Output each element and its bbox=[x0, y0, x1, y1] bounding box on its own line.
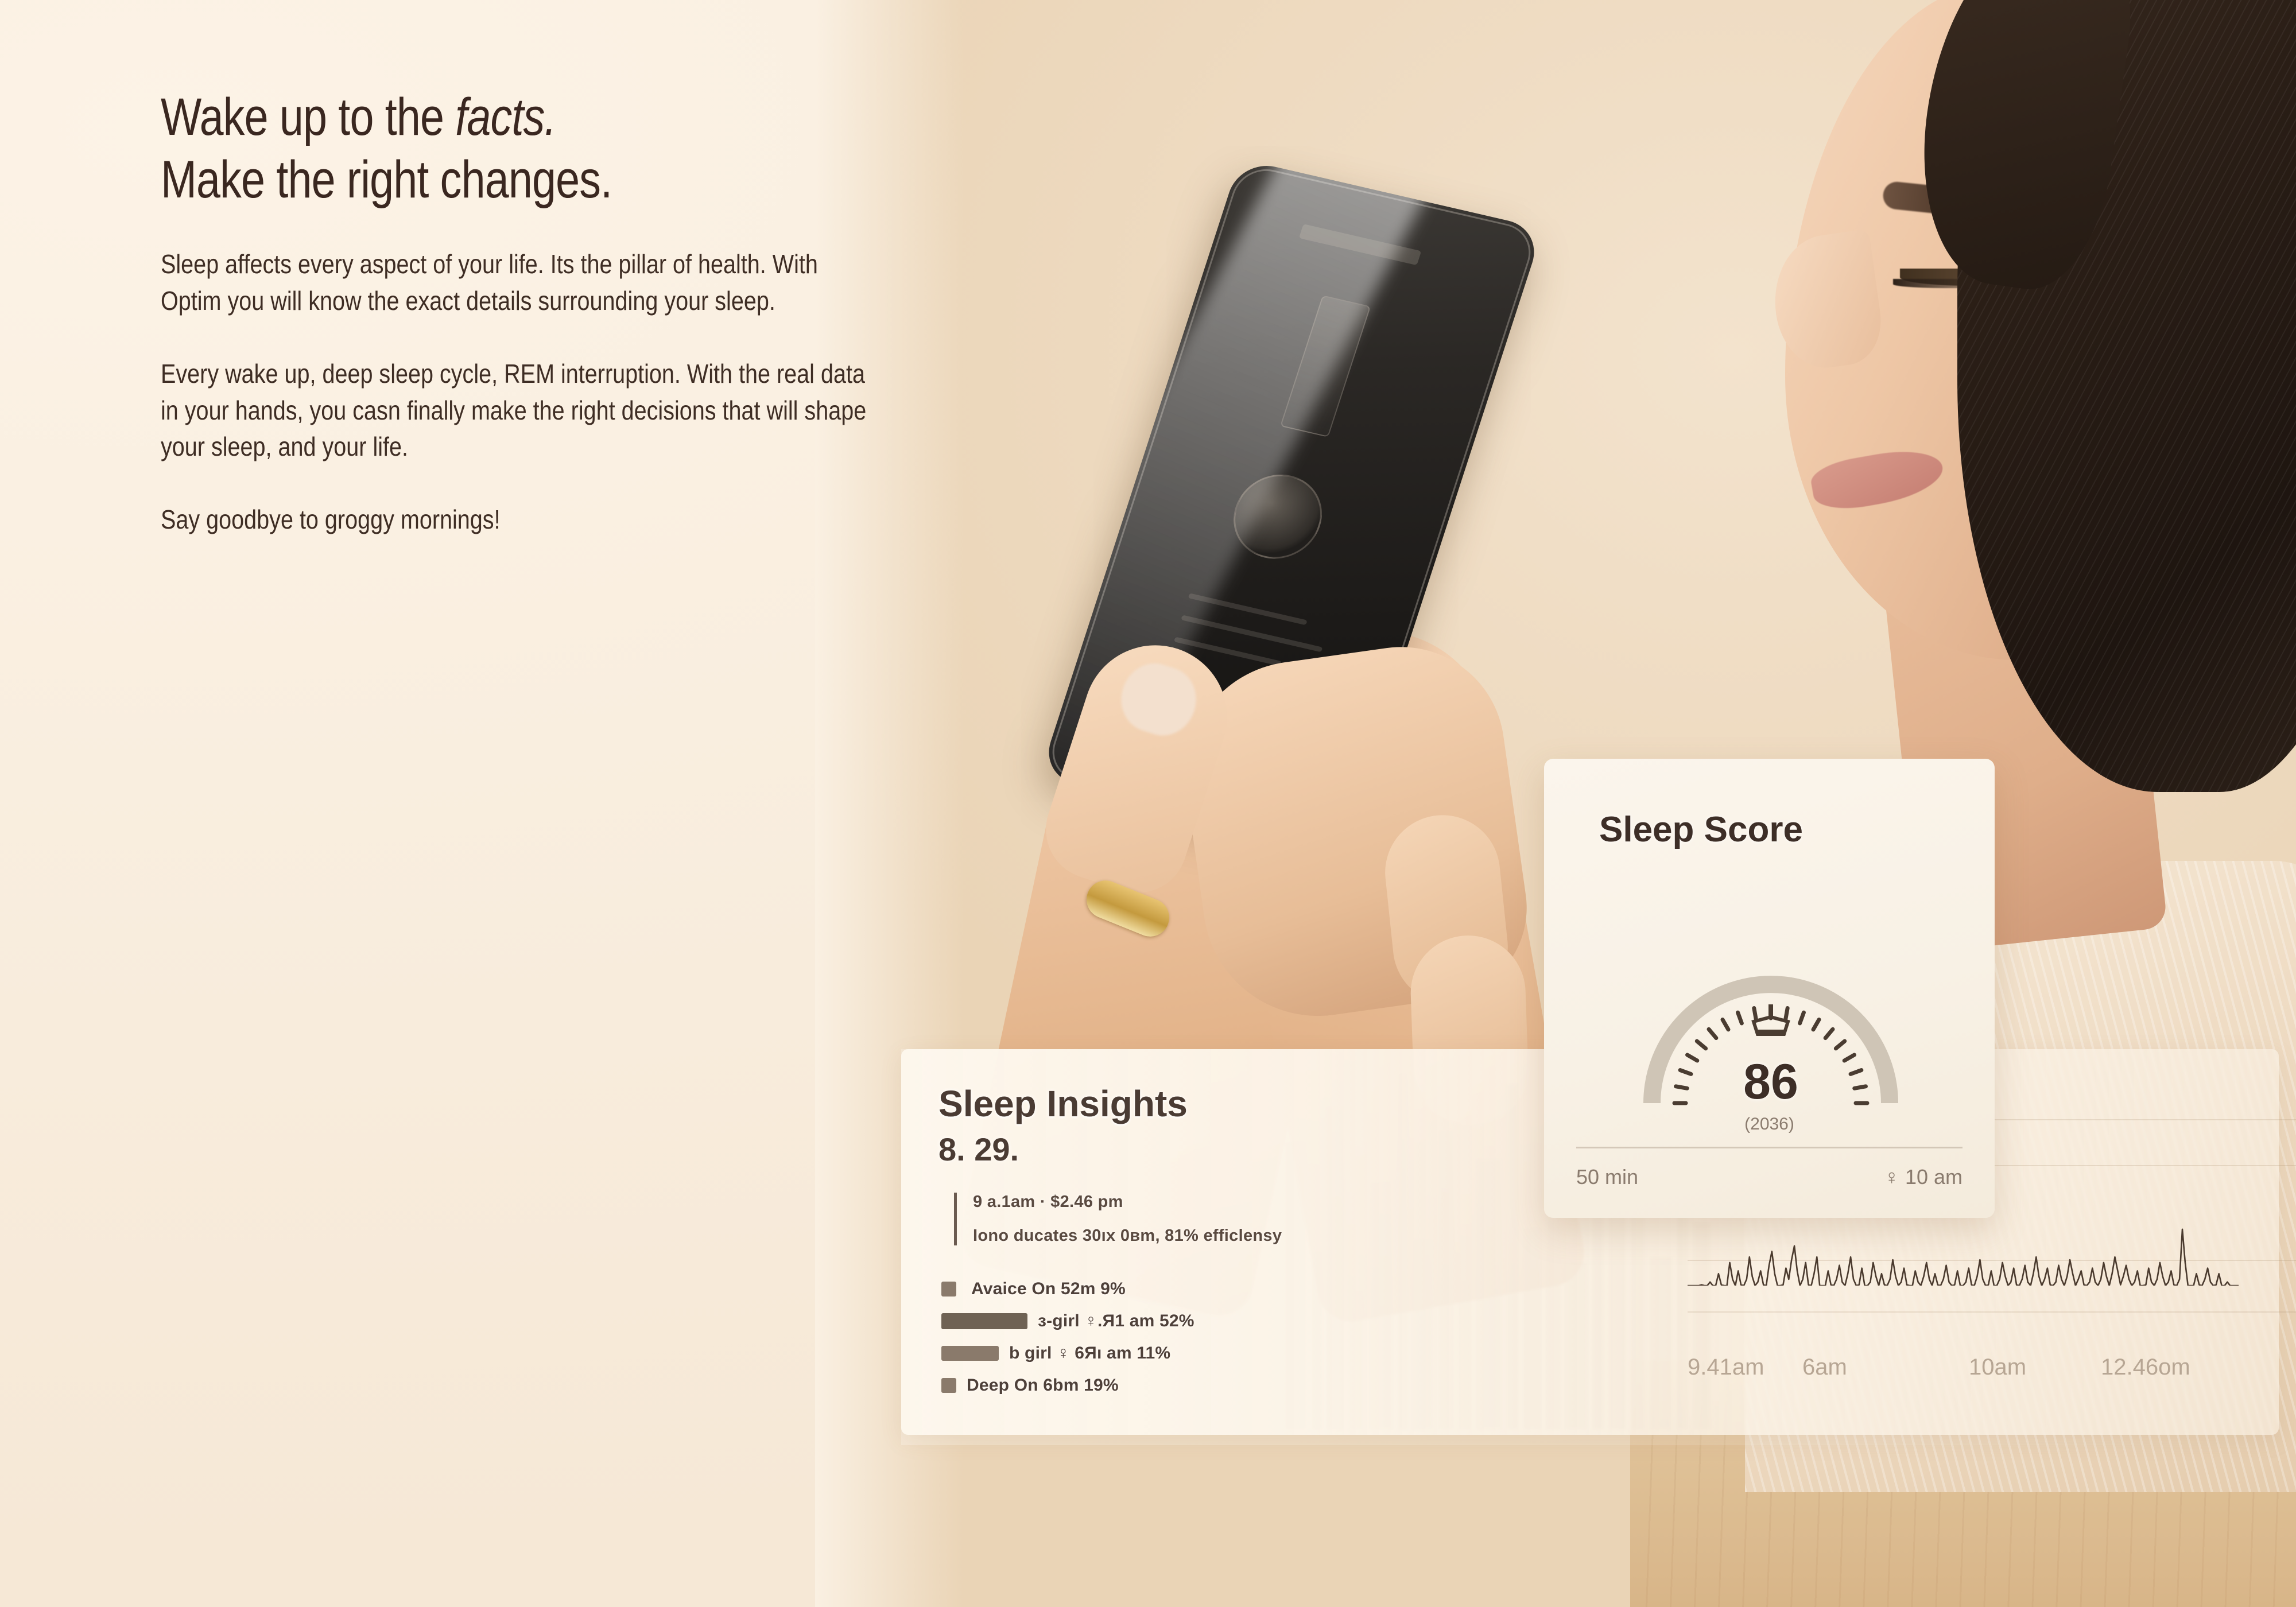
chart-gridline bbox=[1688, 1311, 2296, 1313]
score-value: 86 bbox=[1636, 1054, 1906, 1111]
insights-summary: Iono ducates 30ıх 0вm, 81% efficlensy bbox=[973, 1226, 1282, 1245]
headline-line2: Make the right changes. bbox=[161, 150, 612, 209]
legend-label: Deep On 6bm 19% bbox=[967, 1376, 1119, 1395]
insights-title: Sleep Insights bbox=[938, 1082, 1188, 1125]
legend-swatch bbox=[941, 1282, 956, 1297]
score-footer: 50 min ♀ 10 am bbox=[1576, 1165, 1963, 1189]
legend-item[interactable]: Avaice On 52m 9% bbox=[941, 1273, 1194, 1305]
headline-line1-a: Wake up to the bbox=[161, 88, 455, 146]
gauge-tick bbox=[1738, 1012, 1742, 1023]
gauge-tick bbox=[1723, 1020, 1728, 1030]
gauge-tick bbox=[1836, 1041, 1844, 1049]
headline-line1-emphasis: facts. bbox=[455, 88, 556, 146]
gauge-tick bbox=[1709, 1029, 1716, 1038]
legend-label: Avaice On 52m 9% bbox=[971, 1279, 1126, 1299]
page-title: Wake up to the facts. Make the right cha… bbox=[161, 86, 716, 211]
body-paragraph-3: Say goodbye to groggy mornings! bbox=[161, 502, 871, 538]
score-gauge: 86 bbox=[1636, 953, 1906, 1108]
insights-date: 8. 29. bbox=[938, 1131, 1019, 1168]
score-waketime: ♀ 10 am bbox=[1884, 1165, 1963, 1189]
gauge-tick bbox=[1825, 1029, 1833, 1038]
divider bbox=[1576, 1147, 1963, 1148]
legend-swatch bbox=[941, 1346, 999, 1361]
legend-item[interactable]: b girl ♀ 6Яı am 11% bbox=[941, 1337, 1194, 1369]
body-paragraph-1: Sleep affects every aspect of your life.… bbox=[161, 246, 871, 319]
sleep-stage-legend: Avaice On 52m 9%з-girl ♀.Я1 am 52%b girl… bbox=[941, 1273, 1194, 1402]
insights-time-range: 9 a.1am · $2.46 pm bbox=[973, 1193, 1282, 1212]
legend-swatch bbox=[941, 1378, 956, 1393]
gauge-tick bbox=[1813, 1020, 1819, 1030]
legend-label: b girl ♀ 6Яı am 11% bbox=[1009, 1344, 1170, 1363]
hero-copy: Wake up to the facts. Make the right cha… bbox=[161, 86, 838, 538]
legend-swatch bbox=[941, 1313, 1027, 1329]
page-canvas: Wake up to the facts. Make the right cha… bbox=[0, 0, 2296, 1607]
insights-time-block: 9 a.1am · $2.46 pm Iono ducates 30ıх 0вm… bbox=[954, 1193, 1282, 1245]
chart-x-tick-label: 12.46om bbox=[2101, 1354, 2190, 1380]
crown-icon bbox=[1748, 1004, 1794, 1039]
gauge-tick bbox=[1800, 1012, 1804, 1023]
score-duration: 50 min bbox=[1576, 1165, 1638, 1189]
chart-x-tick-label: 6am bbox=[1802, 1354, 1847, 1380]
legend-item[interactable]: з-girl ♀.Я1 am 52% bbox=[941, 1305, 1194, 1337]
sleep-score-card[interactable]: Sleep Score 86 (2036) 50 min ♀ 10 am bbox=[1544, 759, 1995, 1218]
gauge-tick bbox=[1697, 1041, 1705, 1049]
nose bbox=[1766, 229, 1887, 374]
legend-item[interactable]: Deep On 6bm 19% bbox=[941, 1369, 1194, 1402]
score-subvalue: (2036) bbox=[1544, 1115, 1995, 1134]
chart-x-tick-label: 10am bbox=[1969, 1354, 2026, 1380]
score-title: Sleep Score bbox=[1599, 809, 1803, 850]
legend-label: з-girl ♀.Я1 am 52% bbox=[1038, 1311, 1194, 1331]
body-paragraph-2: Every wake up, deep sleep cycle, REM int… bbox=[161, 356, 871, 465]
chart-x-tick-label: 9.41am bbox=[1688, 1354, 1764, 1380]
